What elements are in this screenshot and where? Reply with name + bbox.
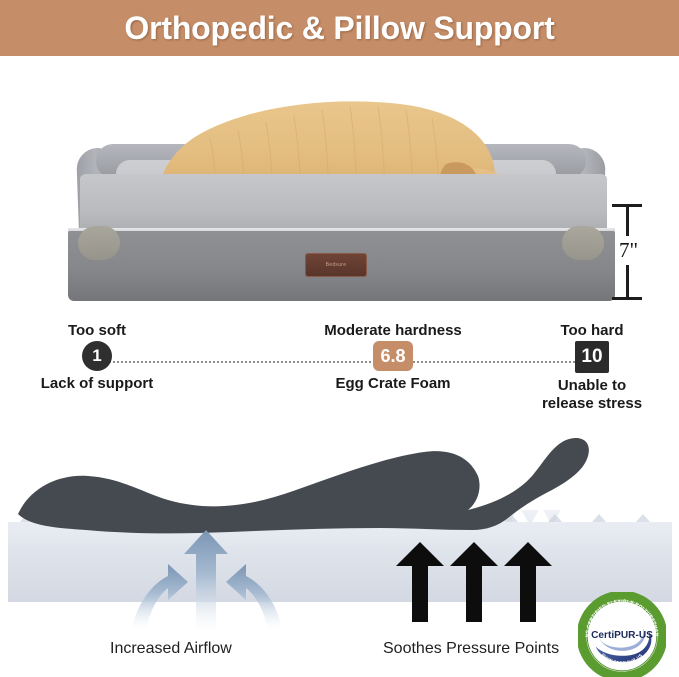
brand-tag-label: Bedsure — [326, 262, 347, 268]
scale-node-too-hard: Too hard 10 Unable to release stress — [527, 322, 657, 412]
header-banner: Orthopedic & Pillow Support — [0, 0, 679, 56]
dimension-label: 7" — [616, 236, 641, 265]
bolster-right-end-cap — [561, 225, 604, 260]
certipur-wordmark: CertiPUR-US — [591, 630, 653, 641]
hardness-scale: Too soft 1 Lack of support Moderate hard… — [0, 322, 679, 418]
certipur-us-badge: CertiPUR-US CONTAINS CERTIFIED FLEXIBLE … — [578, 592, 666, 677]
dog-silhouette — [18, 438, 589, 533]
bolster-left-end-cap — [77, 225, 120, 260]
product-photo: Bedsure — [0, 56, 679, 316]
dimension-tick-bottom — [612, 297, 642, 300]
scale-node-subtitle: Egg Crate Foam — [313, 375, 473, 392]
page-title: Orthopedic & Pillow Support — [124, 10, 554, 47]
scale-node-too-soft: Too soft 1 Lack of support — [22, 322, 172, 393]
infographic-page: Orthopedic & Pillow Support — [0, 0, 679, 677]
brand-leather-tag: Bedsure — [305, 253, 367, 277]
caption-increased-airflow: Increased Airflow — [110, 640, 232, 658]
scale-node-title: Moderate hardness — [313, 322, 473, 339]
scale-node-title: Too soft — [22, 322, 172, 339]
scale-node-subtitle-line2: release stress — [527, 395, 657, 412]
scale-node-moderate: Moderate hardness 6.8 Egg Crate Foam — [313, 322, 473, 393]
status-badge: 6.8 — [373, 341, 413, 371]
height-dimension-indicator: 7" — [608, 204, 654, 300]
status-badge: 10 — [575, 341, 609, 373]
caption-soothes-pressure-points: Soothes Pressure Points — [383, 640, 559, 658]
status-badge: 1 — [82, 341, 112, 371]
scale-node-title: Too hard — [527, 322, 657, 339]
pressure-arrows — [396, 542, 552, 622]
scale-node-subtitle: Lack of support — [22, 375, 172, 392]
bed-mattress — [80, 174, 607, 236]
scale-node-subtitle: Unable to — [527, 377, 657, 394]
